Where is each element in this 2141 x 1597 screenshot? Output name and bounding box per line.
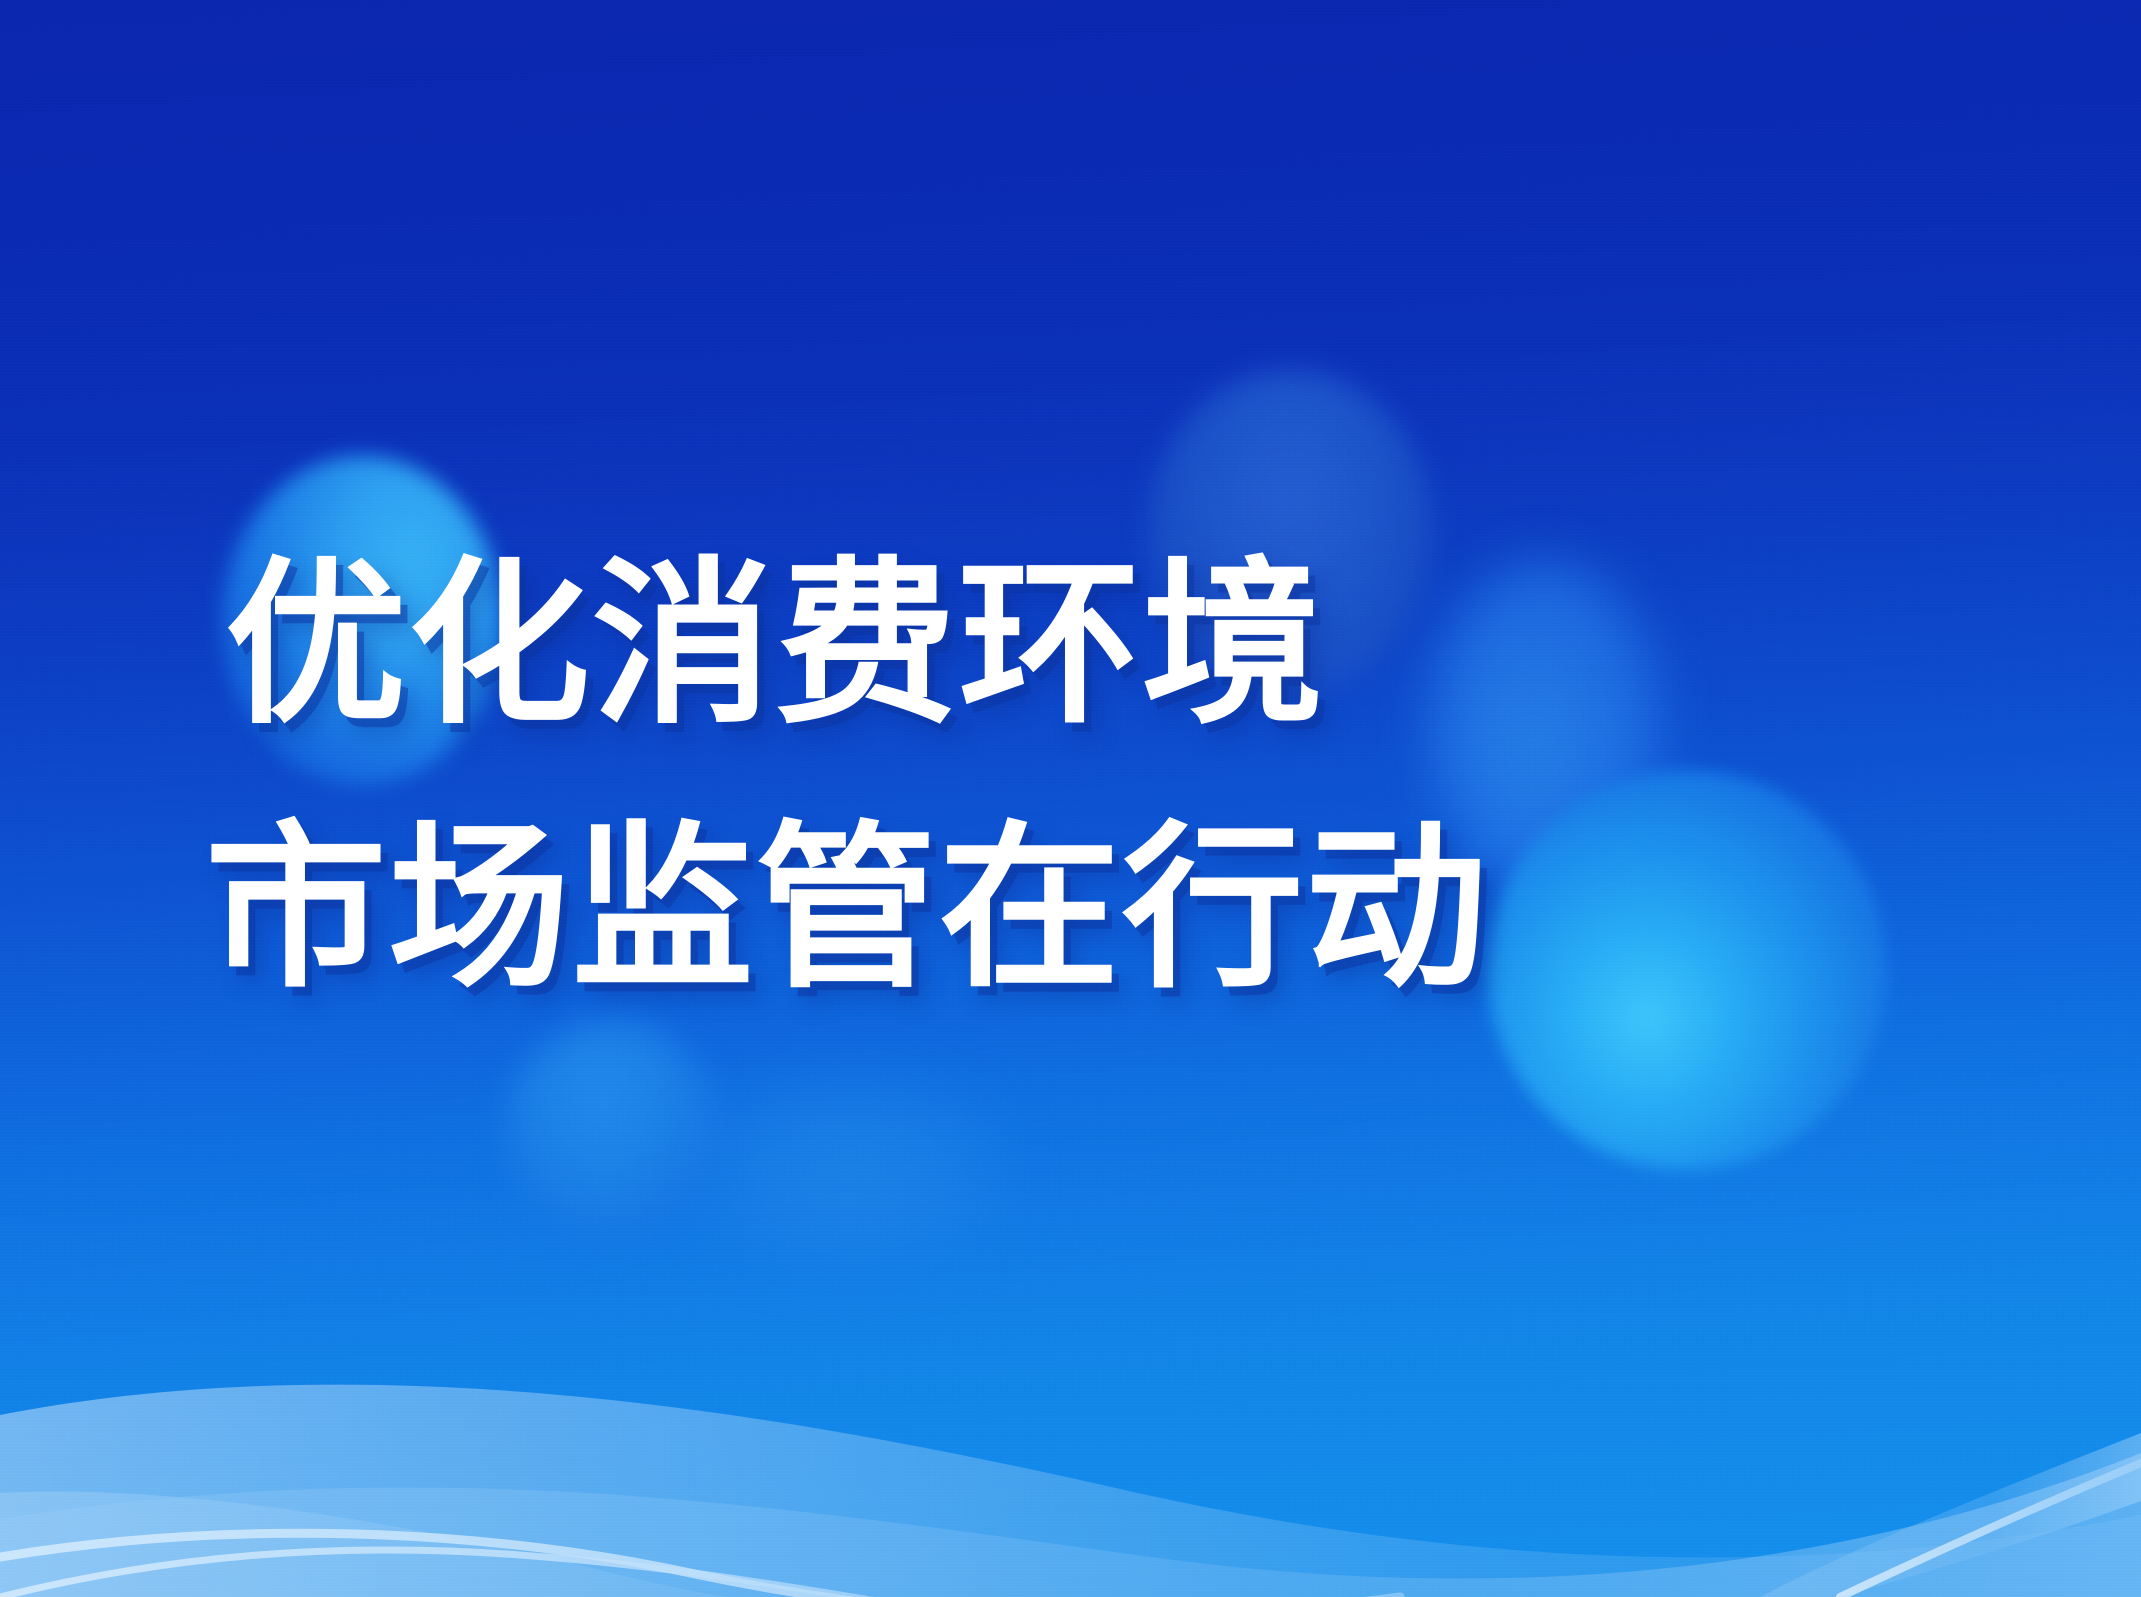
headline-line-2: 市场监管在行动 — [205, 820, 1489, 998]
poster-canvas: 优化消费环境 市场监管在行动 — [0, 0, 2141, 1597]
headline-line-1: 优化消费环境 — [225, 556, 1325, 734]
headline-block: 优化消费环境 市场监管在行动 — [0, 0, 2141, 1597]
